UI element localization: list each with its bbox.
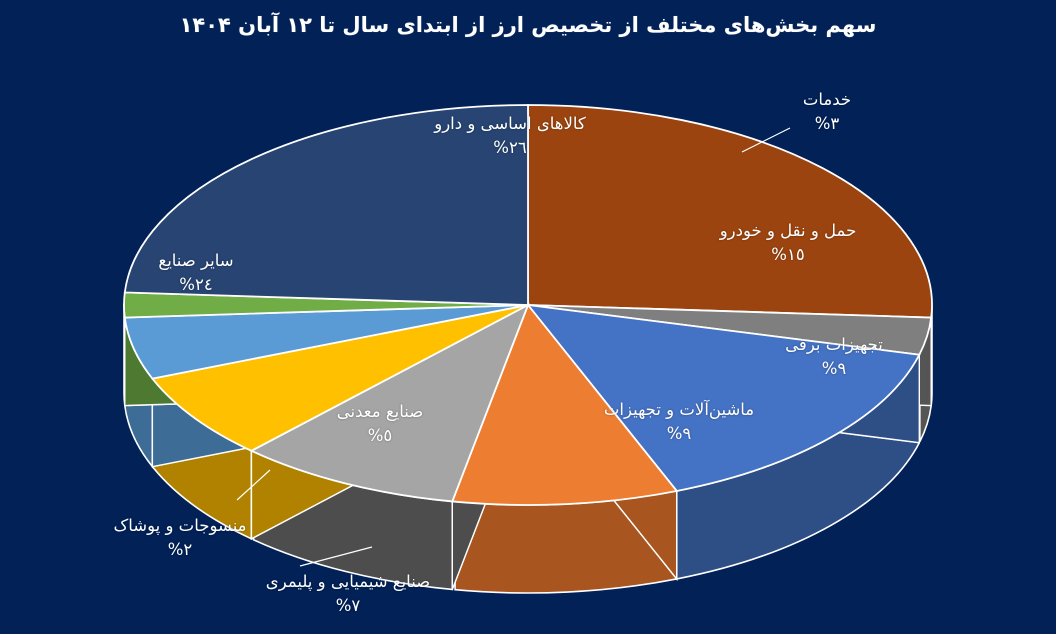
- pie-chart-figure: سهم بخش‌های مختلف از تخصیص ارز از ابتدای…: [0, 0, 1056, 634]
- pie-slice-کالاهای اساسی و دارو[interactable]: [528, 105, 932, 318]
- pie-chart-canvas: [0, 0, 1056, 634]
- pie-slice-سایر صنایع[interactable]: [125, 105, 528, 305]
